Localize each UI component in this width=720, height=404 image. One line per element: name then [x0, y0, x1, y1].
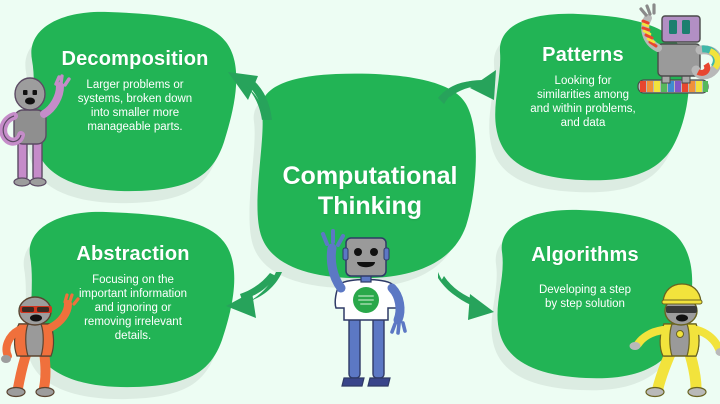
blob-abstraction[interactable]	[30, 212, 235, 387]
blob-decomposition[interactable]	[31, 12, 236, 191]
center-title-line2: Thinking	[250, 192, 490, 222]
blob-patterns[interactable]	[495, 14, 689, 181]
center-title: Computational Thinking	[250, 162, 490, 221]
center-title-line1: Computational	[250, 162, 490, 192]
